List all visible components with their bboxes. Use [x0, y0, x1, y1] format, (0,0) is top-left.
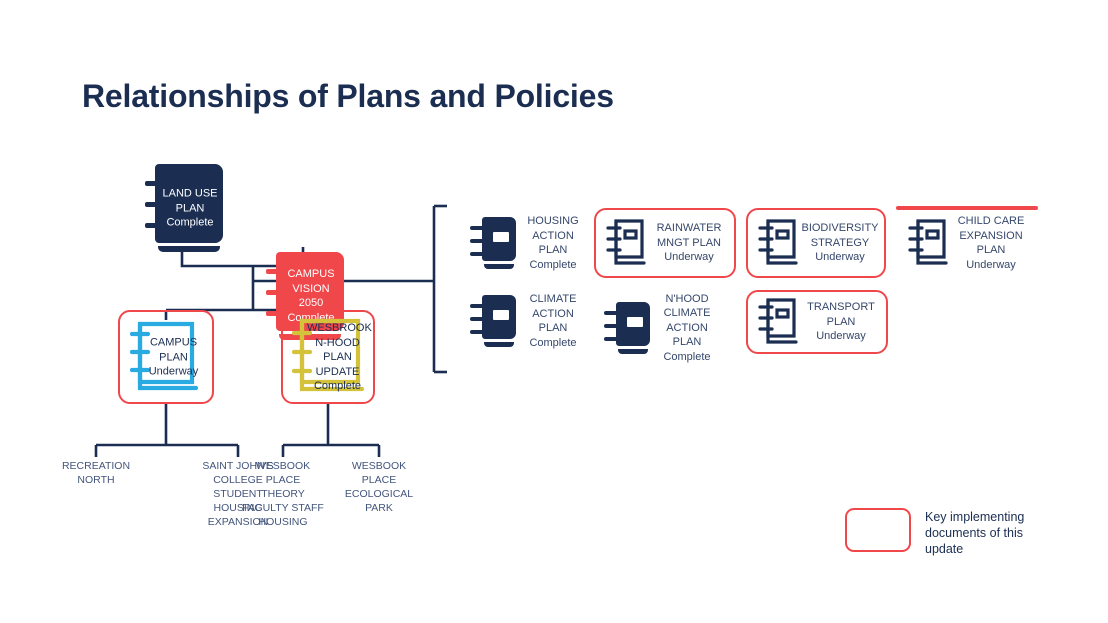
book-pages	[484, 264, 514, 269]
book-binding-tab	[470, 317, 486, 321]
node-label: N'HOOD CLIMATE ACTION PLAN Complete	[650, 292, 724, 365]
node-label: CHILD CARE EXPANSION PLAN Underway	[950, 214, 1032, 272]
node-label: TRANSPORT PLAN Underway	[800, 300, 882, 344]
book-icon	[604, 217, 648, 269]
node-label: WESBROOK N-HOOD PLAN UPDATE Complete	[307, 321, 368, 394]
book-icon	[906, 217, 950, 269]
book-binding-tab	[266, 311, 280, 316]
node-land-use-plan[interactable]: LAND USE PLAN Complete	[145, 164, 223, 252]
node-wesbrook-nhood-plan-update[interactable]: WESBROOK N-HOOD PLAN UPDATE Complete	[288, 316, 370, 398]
leaf-wesbook-place-ecological-park: WESBOOK PLACE ECOLOGICAL PARK	[332, 459, 426, 515]
legend-swatch	[845, 508, 911, 552]
book-icon	[470, 295, 516, 347]
node-biodiversity-strategy[interactable]: BIODIVERSITY STRATEGY Underway	[756, 214, 880, 272]
node-rainwater-mngt-plan[interactable]: RAINWATER MNGT PLAN Underway	[604, 214, 730, 272]
node-label: CLIMATE ACTION PLAN Complete	[516, 292, 590, 350]
book-binding-tab	[470, 252, 486, 256]
node-label: RAINWATER MNGT PLAN Underway	[648, 221, 730, 265]
legend-label: Key implementing documents of this updat…	[925, 508, 1024, 557]
node-label: LAND USE PLAN Complete	[161, 186, 219, 230]
book-icon	[604, 302, 650, 354]
leaf-recreation-north: RECREATION NORTH	[46, 459, 146, 487]
node-campus-plan[interactable]: CAMPUS PLAN Underway	[126, 318, 206, 396]
book-icon	[470, 217, 516, 269]
book-pages	[158, 246, 220, 252]
book-binding-tab	[604, 337, 620, 341]
book-binding-tab	[145, 202, 159, 207]
node-housing-action-plan[interactable]: HOUSING ACTION PLAN Complete	[470, 212, 590, 274]
highlight-ring-child-care-expansion-plan	[896, 206, 1038, 210]
book-binding-tab	[470, 226, 486, 230]
slide-canvas: Relationships of Plans and Policies	[0, 0, 1108, 623]
node-label: BIODIVERSITY STRATEGY Underway	[800, 221, 880, 265]
node-transport-plan[interactable]: TRANSPORT PLAN Underway	[756, 294, 882, 350]
book-binding-tab	[145, 181, 159, 186]
page-title: Relationships of Plans and Policies	[82, 78, 614, 115]
book-cover-plate	[627, 317, 643, 327]
book-binding-tab	[266, 269, 280, 274]
book-binding-tab	[266, 290, 280, 295]
book-binding-tab	[470, 239, 486, 243]
book-pages	[618, 349, 648, 354]
book-binding-tab	[470, 330, 486, 334]
node-label: CAMPUS PLAN Underway	[144, 335, 203, 379]
book-cover-plate	[493, 232, 509, 242]
book-binding-tab	[145, 223, 159, 228]
node-label: HOUSING ACTION PLAN Complete	[516, 214, 590, 272]
book-icon	[756, 296, 800, 348]
book-binding-tab	[470, 304, 486, 308]
node-child-care-expansion-plan[interactable]: CHILD CARE EXPANSION PLAN Underway	[906, 212, 1032, 274]
book-binding-tab	[604, 311, 620, 315]
node-climate-action-plan[interactable]: CLIMATE ACTION PLAN Complete	[470, 290, 590, 352]
book-binding-tab	[604, 324, 620, 328]
book-cover-plate	[493, 310, 509, 320]
node-nhood-climate-action-plan[interactable]: N'HOOD CLIMATE ACTION PLAN Complete	[604, 290, 724, 366]
leaf-wesbook-place-theory-faculty-staff-housing: WESBOOK PLACE THEORY FACULTY STAFF HOUSI…	[232, 459, 334, 529]
book-pages	[484, 342, 514, 347]
book-icon	[756, 217, 800, 269]
legend: Key implementing documents of this updat…	[845, 508, 1024, 557]
